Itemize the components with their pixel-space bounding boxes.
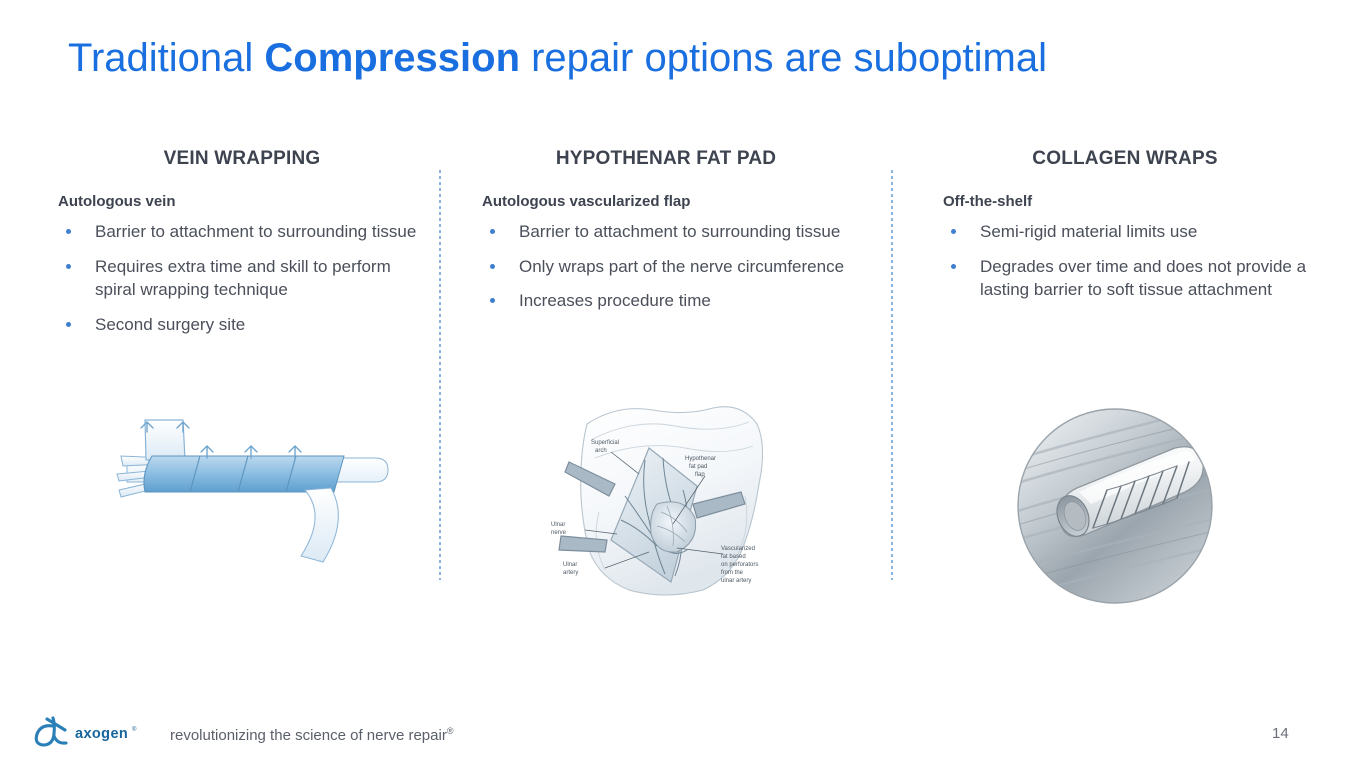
figure-label-hypothenar-fat-pad-flap-3: flap [695,472,705,478]
figure-label-superficial-arch: Superficial [591,440,619,446]
figure-label-superficial-arch-2: arch [595,448,607,454]
title-text-part1: Traditional [68,36,264,80]
page-title: Traditional Compression repair options a… [68,30,1308,86]
bullet-text: Second surgery site [95,315,245,334]
figure-label-vascularized-fat: Vascularized [721,546,755,552]
hypothenar-fat-pad-illustration: Superficial arch Hypothenar fat pad flap… [545,400,785,605]
list-item: Semi-rigid material limits use [943,220,1315,244]
figure-label-hypothenar-fat-pad-flap-2: fat pad [689,464,707,470]
figure-label-ulnar-nerve-2: nerve [551,530,567,536]
bullet-list-vein-wrapping: Barrier to attachment to surrounding tis… [58,220,426,336]
column-hypothenar-fat-pad: HYPOTHENAR FAT PAD Autologous vasculariz… [482,148,850,324]
figure-label-ulnar-artery-2: artery [563,570,578,576]
column-subheading-hypothenar-fat-pad: Autologous vascularized flap [482,192,850,212]
bullet-text: Barrier to attachment to surrounding tis… [519,222,840,241]
page-number: 14 [1272,725,1289,742]
title-text-part2: repair options are suboptimal [520,36,1047,80]
list-item: Only wraps part of the nerve circumferen… [482,255,850,279]
footer-tagline-superscript: ® [447,726,454,736]
figure-label-vascularized-fat-2: fat based [721,554,746,560]
column-collagen-wraps: COLLAGEN WRAPS Off-the-shelf Semi-rigid … [943,148,1315,313]
vein-wrapping-illustration [105,398,405,588]
bullet-list-collagen-wraps: Semi-rigid material limits use Degrades … [943,220,1315,302]
list-item: Barrier to attachment to surrounding tis… [58,220,426,244]
footer-tagline: revolutionizing the science of nerve rep… [170,721,453,746]
bullet-dot-icon [951,264,956,269]
bullet-text: Requires extra time and skill to perform… [95,257,391,300]
figure-label-ulnar-artery: Ulnar [563,562,577,568]
bullet-text: Only wraps part of the nerve circumferen… [519,257,844,276]
bullet-text: Increases procedure time [519,291,711,310]
bullet-dot-icon [490,298,495,303]
footer-tagline-text: revolutionizing the science of nerve rep… [170,727,447,744]
axogen-logo-trademark: ® [132,726,137,733]
bullet-dot-icon [490,229,495,234]
bullet-text: Barrier to attachment to surrounding tis… [95,222,416,241]
collagen-wrap-photo [1015,406,1215,606]
title-emphasis-compression: Compression [264,36,520,80]
column-subheading-collagen-wraps: Off-the-shelf [943,192,1315,212]
figure-label-ulnar-nerve: Ulnar [551,522,565,528]
figure-label-hypothenar-fat-pad-flap: Hypothenar [685,456,716,462]
column-subheading-vein-wrapping: Autologous vein [58,192,426,212]
axogen-logo-text: axogen [75,726,128,742]
figure-label-vascularized-fat-5: ulnar artery [721,578,751,584]
list-item: Second surgery site [58,313,426,337]
bullet-list-hypothenar-fat-pad: Barrier to attachment to surrounding tis… [482,220,850,313]
bullet-dot-icon [66,229,71,234]
figure-label-vascularized-fat-3: on perforators [721,562,758,568]
column-heading-vein-wrapping: VEIN WRAPPING [58,148,426,170]
bullet-text: Degrades over time and does not provide … [980,257,1306,300]
bullet-text: Semi-rigid material limits use [980,222,1197,241]
figure-label-vascularized-fat-4: from the [721,570,744,576]
list-item: Barrier to attachment to surrounding tis… [482,220,850,244]
bullet-dot-icon [66,322,71,327]
column-heading-hypothenar-fat-pad: HYPOTHENAR FAT PAD [482,148,850,170]
column-heading-collagen-wraps: COLLAGEN WRAPS [943,148,1315,170]
column-vein-wrapping: VEIN WRAPPING Autologous vein Barrier to… [58,148,426,347]
list-item: Degrades over time and does not provide … [943,255,1315,302]
bullet-dot-icon [66,264,71,269]
axogen-logo: axogen ® [27,714,147,750]
bullet-dot-icon [490,264,495,269]
bullet-dot-icon [951,229,956,234]
list-item: Increases procedure time [482,289,850,313]
list-item: Requires extra time and skill to perform… [58,255,426,302]
